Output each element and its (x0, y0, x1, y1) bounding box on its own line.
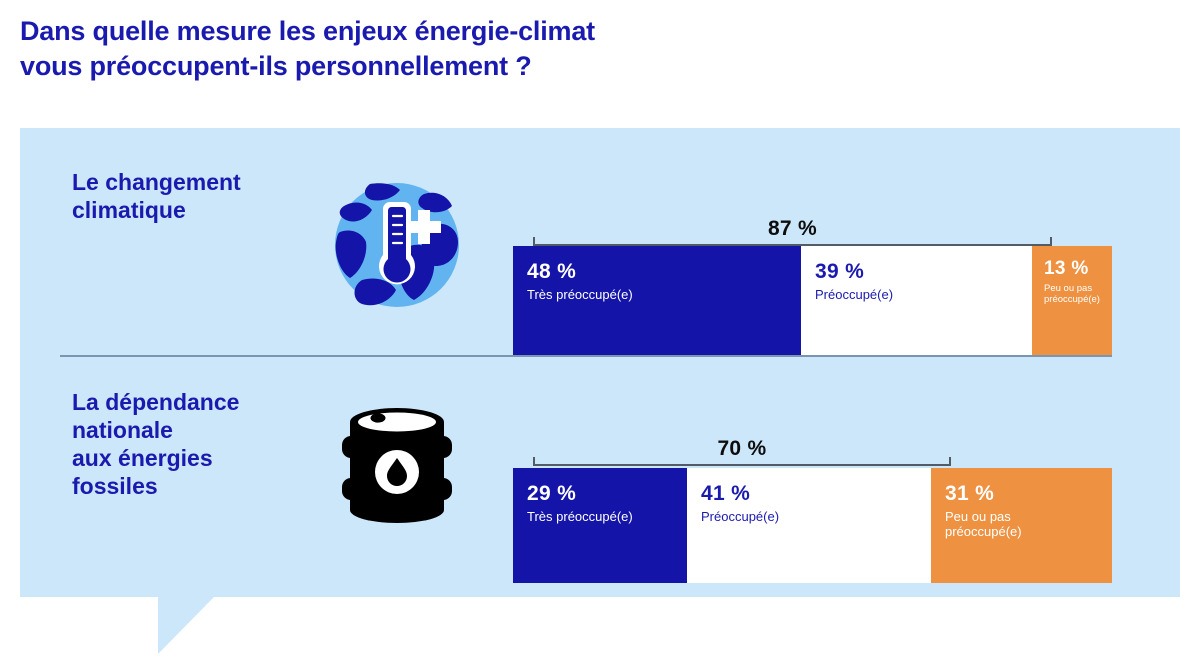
total-label-fossil: 70 % (533, 437, 951, 461)
bracket-line (533, 464, 951, 466)
bar-segment-very-concerned[interactable]: 29 % Très préoccupé(e) (513, 468, 687, 583)
speech-bubble-tail (158, 597, 214, 654)
total-bracket-climate: 87 % (533, 220, 1052, 246)
globe-thermometer-icon (332, 180, 462, 310)
row-label-fossil: La dépendance nationale aux énergies fos… (72, 388, 332, 500)
segment-percent: 13 % (1044, 258, 1089, 280)
row-divider (60, 355, 1112, 357)
segment-legend: Très préoccupé(e) (527, 287, 633, 302)
bracket-cap-right (1050, 237, 1052, 246)
stacked-bar-climate: 48 % Très préoccupé(e) 39 % Préoccupé(e)… (513, 246, 1112, 357)
segment-legend: Très préoccupé(e) (527, 509, 633, 524)
bar-segment-little-or-not-concerned[interactable]: 31 % Peu ou pas préoccupé(e) (931, 468, 1112, 583)
chart-row-climate: Le changement climatique (20, 168, 1180, 358)
bracket-cap-right (949, 457, 951, 466)
segment-percent: 48 % (527, 260, 576, 284)
segment-legend: Préoccupé(e) (701, 509, 779, 524)
segment-legend: Préoccupé(e) (815, 287, 893, 302)
bracket-cap-left (533, 457, 535, 466)
chart-row-fossil: La dépendance nationale aux énergies fos… (20, 388, 1180, 578)
bar-segment-concerned[interactable]: 39 % Préoccupé(e) (801, 246, 1032, 357)
bar-segment-concerned[interactable]: 41 % Préoccupé(e) (687, 468, 931, 583)
row-label-climate: Le changement climatique (72, 168, 332, 224)
chart-panel: Le changement climatique (20, 128, 1180, 597)
total-label-climate: 87 % (533, 217, 1052, 241)
segment-percent: 41 % (701, 482, 750, 506)
segment-percent: 39 % (815, 260, 864, 284)
segment-legend: Peu ou pas préoccupé(e) (1044, 283, 1100, 305)
page-title: Dans quelle mesure les enjeux énergie-cl… (20, 14, 1020, 83)
segment-legend: Peu ou pas préoccupé(e) (945, 509, 1022, 540)
bracket-cap-left (533, 237, 535, 246)
bar-segment-very-concerned[interactable]: 48 % Très préoccupé(e) (513, 246, 801, 357)
bar-segment-little-or-not-concerned[interactable]: 13 % Peu ou pas préoccupé(e) (1032, 246, 1112, 357)
segment-percent: 31 % (945, 482, 994, 506)
stacked-bar-fossil: 29 % Très préoccupé(e) 41 % Préoccupé(e)… (513, 468, 1112, 583)
total-bracket-fossil: 70 % (533, 440, 951, 466)
segment-percent: 29 % (527, 482, 576, 506)
oil-barrel-icon (332, 396, 462, 536)
